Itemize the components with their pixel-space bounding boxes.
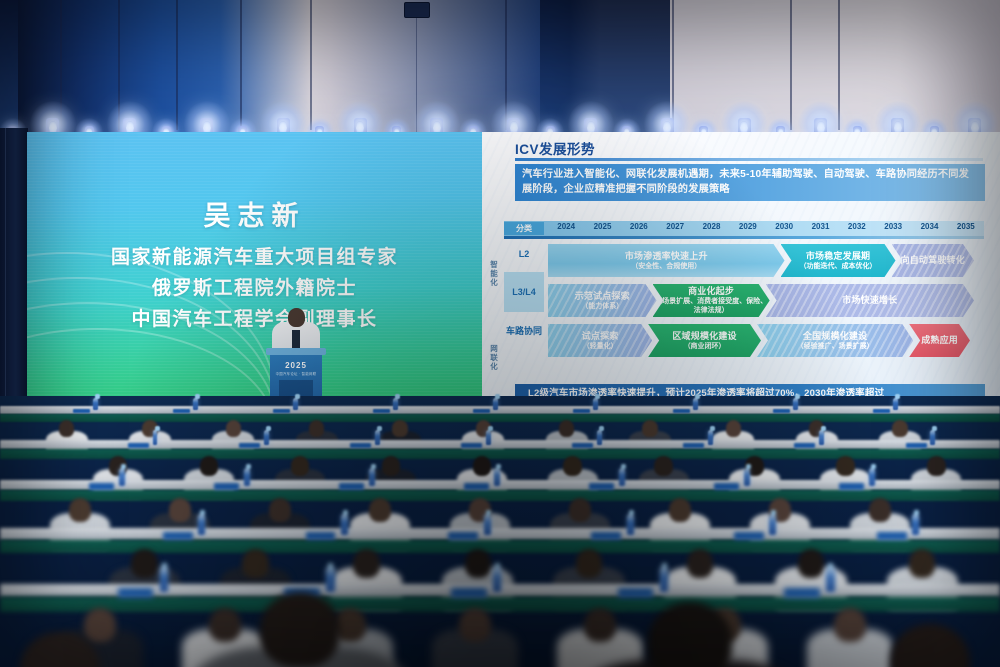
audience-name-card <box>573 409 591 414</box>
audience-person-head <box>59 420 75 437</box>
timeline-year-2028: 2028 <box>693 222 729 231</box>
audience-name-card <box>73 409 91 414</box>
audience-name-card <box>572 443 593 449</box>
audience-person-head <box>382 456 401 476</box>
audience-person-head <box>909 549 935 577</box>
water-bottle <box>793 398 797 410</box>
timeline-header: 分类20242025202620272028202920302031203220… <box>504 221 984 236</box>
segment-subtitle: （能力体系） <box>581 302 623 311</box>
water-bottle <box>341 514 348 535</box>
audience-name-card <box>239 443 260 449</box>
water-bottle <box>160 567 168 592</box>
row-label-vehicle-road: 车路协同 <box>504 326 544 337</box>
audience-name-card <box>306 532 336 540</box>
audience-person-head <box>927 456 946 476</box>
water-bottle <box>153 430 158 445</box>
speaker-title-line: 国家新能源汽车重大项目组专家 <box>27 242 482 273</box>
segment-title: 向自动驾驶转化 <box>901 255 965 266</box>
audience-person-head <box>576 549 602 577</box>
audience-person-head <box>569 498 591 522</box>
audience-name-card <box>734 532 764 540</box>
audience-person-head <box>69 498 91 522</box>
water-bottle <box>244 468 250 486</box>
podium-top <box>266 348 326 355</box>
timeline-segment: 区域规模化建设（商业闭环） <box>648 324 761 357</box>
timeline-year-2024: 2024 <box>548 222 584 231</box>
audience-person-head <box>563 456 582 476</box>
audience-person-head <box>465 549 491 577</box>
timeline-year-2034: 2034 <box>911 222 947 231</box>
audience-name-card <box>906 443 927 449</box>
water-bottle <box>912 514 919 535</box>
audience-name-card <box>877 532 907 540</box>
water-bottle <box>869 468 875 486</box>
segment-title: 商业化起步 <box>688 286 734 297</box>
water-bottle <box>930 430 935 445</box>
group-label-connected: 网联化 <box>488 344 500 371</box>
audience-person-head <box>291 456 310 476</box>
timeline-year-2033: 2033 <box>875 222 911 231</box>
timeline-year-2035: 2035 <box>948 222 984 231</box>
segment-title: 市场稳定发展期 <box>806 251 870 262</box>
audience-name-card <box>461 443 482 449</box>
water-bottle <box>119 468 125 486</box>
water-bottle <box>493 567 501 592</box>
audience-name-card <box>873 409 891 414</box>
audience-person-head <box>226 420 242 437</box>
audience-person-head <box>892 420 908 437</box>
segment-title: 成熟应用 <box>921 335 958 346</box>
speaker-intro-panel: 吴志新 国家新能源汽车重大项目组专家 俄罗斯工程院外籍院士 中国汽车工程学会副理… <box>27 132 482 422</box>
water-bottle <box>93 398 97 410</box>
audience-person-head <box>353 549 379 577</box>
water-bottle <box>375 430 380 445</box>
audience-person-head <box>836 456 855 476</box>
podium-subtitle: 中国汽车论坛 · 智能网联 <box>270 371 322 376</box>
presentation-slide: ICV发展形势 汽车行业进入智能化、网联化发展机遇期，未来5-10年辅助驾驶、自… <box>482 132 1000 422</box>
audience-person-head <box>654 456 673 476</box>
audience-name-card <box>163 532 193 540</box>
timeline-segment: 市场稳定发展期（功能迭代、成本优化） <box>781 244 896 277</box>
foreground-person-head <box>260 592 339 667</box>
audience-person-head <box>200 456 219 476</box>
audience-person-head <box>869 498 891 522</box>
water-bottle <box>493 398 497 410</box>
audience-name-card <box>589 483 614 490</box>
audience-person-head <box>584 608 616 642</box>
audience-desk <box>0 440 1000 449</box>
audience-person-head <box>473 456 492 476</box>
podium-year: 2025 <box>270 361 322 370</box>
water-bottle <box>486 430 491 445</box>
water-bottle <box>193 398 197 410</box>
audience-person-head <box>669 498 691 522</box>
water-bottle <box>393 398 397 410</box>
segment-title: 市场快速增长 <box>842 295 897 306</box>
segment-subtitle: （安全性、合规使用） <box>631 262 701 271</box>
audience-person-head <box>209 608 241 642</box>
segment-title: 区域规模化建设 <box>672 331 736 342</box>
audience-name-card <box>773 409 791 414</box>
timeline-segment: 市场渗透率快速上升（安全性、合规使用） <box>548 244 785 277</box>
audience-name-card <box>794 443 815 449</box>
audience-person-head <box>309 420 325 437</box>
water-bottle <box>744 468 750 486</box>
slide-lead-text: 汽车行业进入智能化、网联化发展机遇期，未来5-10年辅助驾驶、自动驾驶、车路协同… <box>515 164 985 201</box>
audience-name-card <box>89 483 114 490</box>
timeline-segment: 全国规模化建设（经验推广、场景扩展） <box>757 324 913 357</box>
slide-title: ICV发展形势 <box>515 138 595 158</box>
audience-name-card <box>618 588 654 597</box>
audience-name-card <box>350 443 371 449</box>
segment-title: 示范试点探索 <box>575 291 630 302</box>
timeline-segment: 试点探索（轻量化） <box>548 324 652 357</box>
water-bottle <box>619 468 625 486</box>
led-screen: 吴志新 国家新能源汽车重大项目组专家 俄罗斯工程院外籍院士 中国汽车工程学会副理… <box>27 132 1000 422</box>
audience-person-head <box>169 498 191 522</box>
segment-title: 全国规模化建设 <box>803 331 867 342</box>
speaker-name: 吴志新 <box>27 194 482 233</box>
timeline-category-header: 分类 <box>504 222 544 235</box>
speaker-titles: 国家新能源汽车重大项目组专家 俄罗斯工程院外籍院士 中国汽车工程学会副理事长 <box>27 242 482 335</box>
timeline-year-2026: 2026 <box>621 222 657 231</box>
segment-subtitle: （经验推广、场景扩展） <box>797 342 874 351</box>
audience-name-card <box>714 483 739 490</box>
audience-person-head <box>687 549 713 577</box>
speaker-title-line: 中国汽车工程学会副理事长 <box>27 304 482 335</box>
segment-subtitle: （场景扩展、消费者接受度、保险、法律法规） <box>653 297 770 315</box>
audience-person-head <box>642 420 658 437</box>
audience-person-head <box>269 498 291 522</box>
audience-person-head <box>84 608 116 642</box>
audience-desk-front <box>0 490 1000 501</box>
audience-person-head <box>726 420 742 437</box>
water-bottle <box>708 430 713 445</box>
segment-title: 市场渗透率快速上升 <box>625 251 708 262</box>
segment-title: 试点探索 <box>582 331 619 342</box>
audience-person-head <box>242 549 268 577</box>
audience-name-card <box>673 409 691 414</box>
timeline-header-rule <box>504 236 984 239</box>
audience-person-head <box>131 549 157 577</box>
water-bottle <box>369 468 375 486</box>
audience-name-card <box>448 532 478 540</box>
slide-title-rule <box>515 158 983 161</box>
timeline-segment: 市场快速增长 <box>766 284 974 317</box>
audience-name-card <box>784 588 820 597</box>
water-bottle <box>484 514 491 535</box>
audience-name-card <box>173 409 191 414</box>
audience-person-head <box>834 608 866 642</box>
conference-photo: 吴志新 国家新能源汽车重大项目组专家 俄罗斯工程院外籍院士 中国汽车工程学会副理… <box>0 0 1000 667</box>
audience-person-head <box>798 549 824 577</box>
water-bottle <box>198 514 205 535</box>
timeline-year-2031: 2031 <box>802 222 838 231</box>
audience-name-card <box>339 483 364 490</box>
foreground-person-head <box>890 624 969 667</box>
audience-name-card <box>128 443 149 449</box>
water-bottle <box>693 398 697 410</box>
water-bottle <box>769 514 776 535</box>
audience-person-head <box>559 420 575 437</box>
water-bottle <box>826 567 834 592</box>
stage-pillar-left <box>0 128 28 428</box>
segment-subtitle: （轻量化） <box>583 342 618 351</box>
audience-person-head <box>369 498 391 522</box>
timeline-segment: 向自动驾驶转化 <box>892 244 974 277</box>
water-bottle <box>326 567 334 592</box>
group-label-intelligent: 智能化 <box>488 260 500 287</box>
row-label-l2: L2 <box>504 249 544 260</box>
water-bottle <box>627 514 634 535</box>
speaker-title-line: 俄罗斯工程院外籍院士 <box>27 273 482 304</box>
timeline-year-2030: 2030 <box>766 222 802 231</box>
water-bottle <box>597 430 602 445</box>
timeline-year-2029: 2029 <box>730 222 766 231</box>
timeline-segment: 示范试点探索（能力体系） <box>548 284 657 317</box>
audience-name-card <box>373 409 391 414</box>
segment-subtitle: （商业闭环） <box>684 342 726 351</box>
water-bottle <box>264 430 269 445</box>
water-bottle <box>593 398 597 410</box>
audience-desk <box>0 528 1000 540</box>
audience-name-card <box>214 483 239 490</box>
timeline-segment: 商业化起步（场景扩展、消费者接受度、保险、法律法规） <box>653 284 770 317</box>
row-label-l3l4: L3/L4 <box>504 287 544 298</box>
audience-name-card <box>118 588 154 597</box>
audience-name-card <box>451 588 487 597</box>
ceiling-projector <box>404 2 430 18</box>
timeline-year-2027: 2027 <box>657 222 693 231</box>
water-bottle <box>893 398 897 410</box>
audience-desk <box>0 406 1000 414</box>
audience-name-card <box>273 409 291 414</box>
audience-person-head <box>392 420 408 437</box>
water-bottle <box>494 468 500 486</box>
timeline-year-2025: 2025 <box>584 222 620 231</box>
audience-name-card <box>473 409 491 414</box>
audience-name-card <box>464 483 489 490</box>
audience-name-card <box>591 532 621 540</box>
audience-person-head <box>459 608 491 642</box>
water-bottle <box>660 567 668 592</box>
audience-area <box>0 396 1000 667</box>
speaker-head <box>288 308 305 327</box>
water-bottle <box>819 430 824 445</box>
audience-name-card <box>839 483 864 490</box>
timeline-year-2032: 2032 <box>839 222 875 231</box>
water-bottle <box>293 398 297 410</box>
audience-name-card <box>683 443 704 449</box>
segment-subtitle: （功能迭代、成本优化） <box>800 262 877 271</box>
